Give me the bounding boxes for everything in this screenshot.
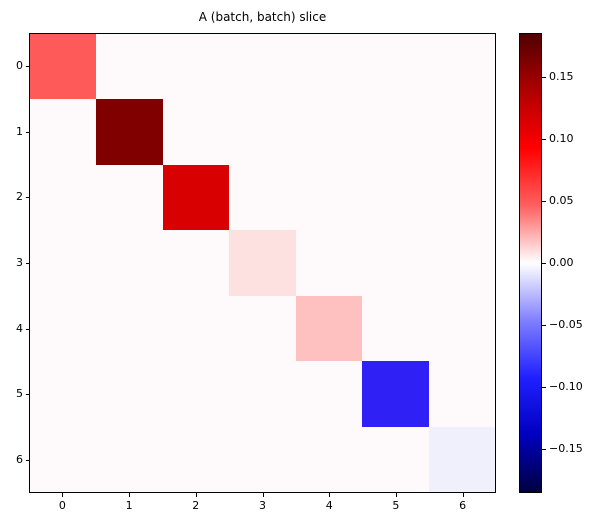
heatmap-cell <box>96 165 162 230</box>
heatmap-cell <box>362 230 428 295</box>
colorbar-tick-label: −0.15 <box>549 442 583 455</box>
heatmap-cell <box>229 361 295 426</box>
heatmap-cell <box>296 230 362 295</box>
heatmap-cell <box>362 165 428 230</box>
heatmap-cell <box>296 165 362 230</box>
heatmap-cell <box>229 427 295 492</box>
heatmap-cell <box>362 361 428 426</box>
colorbar-tick-mark <box>542 387 546 388</box>
heatmap-cell <box>163 427 229 492</box>
y-tick-mark <box>26 394 30 395</box>
colorbar-tick-label: 0.00 <box>549 256 574 269</box>
colorbar-tick-label: −0.10 <box>549 380 583 393</box>
y-tick-label: 0 <box>0 59 23 72</box>
heatmap-cell <box>362 99 428 164</box>
colorbar-tick-mark <box>542 77 546 78</box>
heatmap-cell <box>429 99 495 164</box>
heatmap-cell <box>229 296 295 361</box>
heatmap-cell <box>429 296 495 361</box>
page-title: A (batch, batch) slice <box>29 10 496 24</box>
heatmap-cell <box>30 361 96 426</box>
x-tick-label: 1 <box>109 499 149 512</box>
y-tick-label: 1 <box>0 125 23 138</box>
colorbar-tick-mark <box>542 449 546 450</box>
x-tick-label: 2 <box>176 499 216 512</box>
x-tick-mark <box>129 493 130 497</box>
x-tick-label: 4 <box>309 499 349 512</box>
y-tick-mark <box>26 460 30 461</box>
heatmap-cell <box>429 230 495 295</box>
colorbar-tick-label: −0.05 <box>549 318 583 331</box>
y-tick-mark <box>26 329 30 330</box>
colorbar-gradient <box>520 34 541 492</box>
colorbar-tick-mark <box>542 139 546 140</box>
heatmap-cell <box>362 296 428 361</box>
heatmap-cell <box>30 165 96 230</box>
heatmap-cell <box>96 427 162 492</box>
x-tick-mark <box>329 493 330 497</box>
heatmap-cell <box>362 34 428 99</box>
heatmap-cell <box>296 361 362 426</box>
colorbar-tick-mark <box>542 201 546 202</box>
colorbar-tick-mark <box>542 325 546 326</box>
heatmap-cell <box>96 361 162 426</box>
colorbar-tick-label: 0.05 <box>549 194 574 207</box>
y-tick-mark <box>26 263 30 264</box>
x-tick-label: 6 <box>443 499 483 512</box>
heatmap-cell <box>229 230 295 295</box>
colorbar-tick-label: 0.15 <box>549 70 574 83</box>
y-tick-label: 2 <box>0 190 23 203</box>
x-tick-label: 5 <box>376 499 416 512</box>
y-tick-label: 3 <box>0 256 23 269</box>
y-tick-label: 4 <box>0 322 23 335</box>
y-tick-mark <box>26 132 30 133</box>
heatmap-cell <box>30 427 96 492</box>
matplotlib-figure: A (batch, batch) slice 0123456 0123456 0… <box>0 0 606 528</box>
heatmap-cell <box>429 165 495 230</box>
heatmap-cell <box>163 165 229 230</box>
heatmap-cell <box>296 427 362 492</box>
x-tick-mark <box>463 493 464 497</box>
heatmap-cell <box>229 165 295 230</box>
heatmap-cell <box>296 99 362 164</box>
heatmap-cell <box>163 34 229 99</box>
heatmap-cell <box>96 99 162 164</box>
heatmap-cell <box>163 230 229 295</box>
heatmap-cell <box>96 230 162 295</box>
heatmap-axes <box>29 33 496 493</box>
heatmap-cell <box>163 296 229 361</box>
heatmap-cell <box>163 361 229 426</box>
heatmap-cell <box>296 34 362 99</box>
x-tick-mark <box>396 493 397 497</box>
heatmap-cell <box>163 99 229 164</box>
colorbar-tick-label: 0.10 <box>549 132 574 145</box>
heatmap-grid <box>30 34 495 492</box>
heatmap-cell <box>229 99 295 164</box>
x-tick-label: 0 <box>42 499 82 512</box>
heatmap-cell <box>362 427 428 492</box>
y-tick-label: 6 <box>0 453 23 466</box>
y-tick-mark <box>26 197 30 198</box>
x-tick-label: 3 <box>243 499 283 512</box>
x-tick-mark <box>62 493 63 497</box>
heatmap-cell <box>96 34 162 99</box>
x-tick-mark <box>196 493 197 497</box>
y-tick-label: 5 <box>0 387 23 400</box>
colorbar-tick-mark <box>542 263 546 264</box>
x-tick-mark <box>263 493 264 497</box>
heatmap-cell <box>229 34 295 99</box>
heatmap-cell <box>30 230 96 295</box>
heatmap-cell <box>429 427 495 492</box>
heatmap-cell <box>30 99 96 164</box>
heatmap-cell <box>96 296 162 361</box>
colorbar <box>519 33 542 493</box>
heatmap-cell <box>429 34 495 99</box>
heatmap-cell <box>296 296 362 361</box>
y-tick-mark <box>26 66 30 67</box>
heatmap-cell <box>429 361 495 426</box>
heatmap-cell <box>30 296 96 361</box>
heatmap-cell <box>30 34 96 99</box>
